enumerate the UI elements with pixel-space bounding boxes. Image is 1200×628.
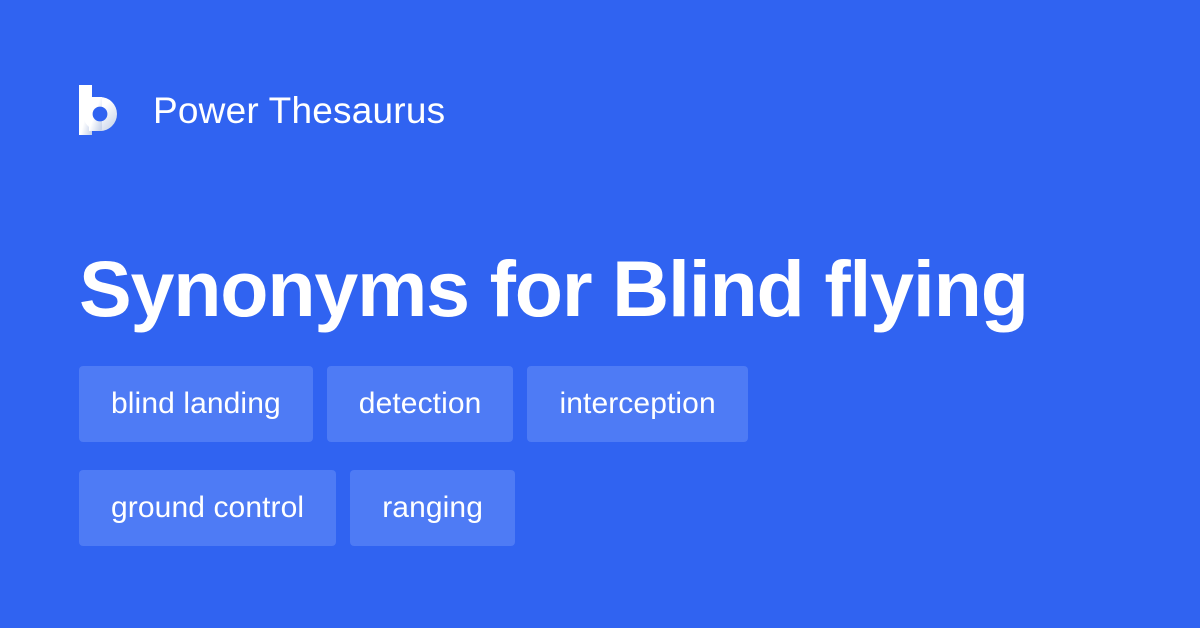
brand-name: Power Thesaurus xyxy=(153,92,445,129)
synonym-tag[interactable]: ranging xyxy=(350,470,515,546)
power-thesaurus-b-logo-icon xyxy=(79,85,125,135)
synonym-tag[interactable]: detection xyxy=(327,366,514,442)
brand-logo-link[interactable]: Power Thesaurus xyxy=(79,82,445,138)
synonym-tag[interactable]: interception xyxy=(527,366,747,442)
page-root: Power Thesaurus Synonyms for Blind flyin… xyxy=(0,0,1200,628)
page-title: Synonyms for Blind flying xyxy=(79,249,1139,330)
synonym-tag-cloud: blind landing detection interception gro… xyxy=(79,366,1139,546)
synonym-tag[interactable]: blind landing xyxy=(79,366,313,442)
synonym-tag[interactable]: ground control xyxy=(79,470,336,546)
